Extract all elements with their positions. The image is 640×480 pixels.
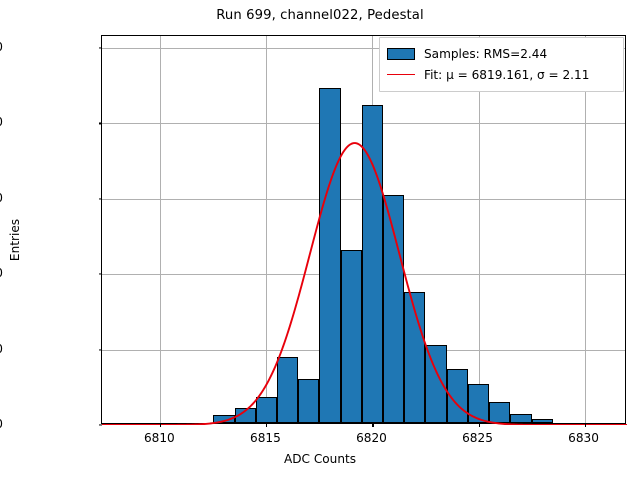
y-tick-label: 200000 (0, 115, 3, 129)
histogram-bar (277, 357, 298, 423)
gridline-vertical (479, 36, 480, 423)
y-tick-label: 0 (0, 417, 3, 431)
y-tick-mark (99, 349, 103, 350)
histogram-bar (298, 379, 319, 423)
x-tick-mark (479, 423, 480, 427)
legend-label-samples: Samples: RMS=2.44 (424, 47, 547, 61)
y-tick-mark (99, 123, 103, 124)
x-tick-label: 6815 (250, 431, 281, 445)
histogram-bar (341, 250, 362, 423)
x-tick-mark (266, 423, 267, 427)
figure: Run 699, channel022, Pedestal Entries AD… (0, 0, 640, 480)
y-tick-label: 50000 (0, 342, 3, 356)
gridline-vertical (266, 36, 267, 423)
x-axis-label: ADC Counts (0, 452, 640, 466)
histogram-bar (447, 369, 468, 423)
legend-entry-fit: Fit: μ = 6819.161, σ = 2.11 (387, 64, 616, 85)
x-tick-mark (372, 423, 373, 427)
histogram-bar (319, 88, 340, 423)
histogram-bar (532, 419, 553, 423)
histogram-bar (213, 415, 234, 423)
y-tick-mark (99, 274, 103, 275)
gridline-vertical (585, 36, 586, 423)
x-tick-label: 6810 (144, 431, 175, 445)
y-tick-mark (99, 48, 103, 49)
histogram-bar (256, 397, 277, 423)
gridline-vertical (160, 36, 161, 423)
histogram-bar (489, 402, 510, 423)
legend-line-icon (387, 74, 415, 75)
chart-title: Run 699, channel022, Pedestal (0, 8, 640, 23)
y-tick-mark (99, 198, 103, 199)
legend: Samples: RMS=2.44 Fit: μ = 6819.161, σ =… (379, 37, 624, 92)
plot-area: Samples: RMS=2.44 Fit: μ = 6819.161, σ =… (101, 35, 626, 424)
x-tick-label: 6820 (356, 431, 387, 445)
y-tick-mark (99, 424, 103, 425)
y-tick-label: 100000 (0, 266, 3, 280)
legend-patch-icon (387, 48, 415, 60)
y-tick-label: 150000 (0, 191, 3, 205)
legend-entry-samples: Samples: RMS=2.44 (387, 43, 616, 64)
legend-label-fit: Fit: μ = 6819.161, σ = 2.11 (424, 68, 589, 82)
x-tick-label: 6825 (462, 431, 493, 445)
y-tick-label: 250000 (0, 40, 3, 54)
histogram-bar (510, 414, 531, 423)
histogram-bar (235, 408, 256, 423)
histogram-bar (383, 195, 404, 423)
histogram-bar (362, 105, 383, 423)
x-tick-mark (160, 423, 161, 427)
x-tick-mark (585, 423, 586, 427)
histogram-bar (404, 292, 425, 423)
x-tick-label: 6830 (568, 431, 599, 445)
histogram-bar (468, 384, 489, 423)
histogram-bar (425, 345, 446, 423)
y-axis-label: Entries (8, 219, 22, 261)
